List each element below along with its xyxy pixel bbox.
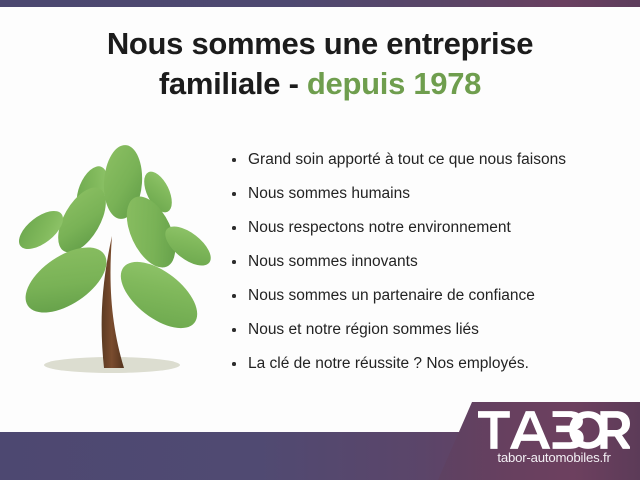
list-item: Nous sommes un partenaire de confiance <box>231 284 631 307</box>
benefits-list: Grand soin apporté à tout ce que nous fa… <box>231 148 631 386</box>
list-item: Nous respectons notre environnement <box>231 216 631 239</box>
page-title-accent: depuis 1978 <box>307 66 481 101</box>
page-title-line-2-text: familiale - <box>159 66 307 101</box>
tabor-wordmark-icon <box>478 411 630 449</box>
page-title-line-1: Nous sommes une entreprise <box>107 26 533 61</box>
tree-illustration <box>8 140 213 390</box>
logo-url-text: tabor-automobiles.fr <box>478 450 630 465</box>
list-item: Grand soin apporté à tout ce que nous fa… <box>231 148 631 171</box>
brand-logo[interactable]: tabor-automobiles.fr <box>478 411 630 473</box>
list-item: Nous et notre région sommes liés <box>231 318 631 341</box>
list-item: La clé de notre réussite ? Nos employés. <box>231 352 631 375</box>
list-item: Nous sommes innovants <box>231 250 631 273</box>
tree-leaves <box>13 144 213 341</box>
top-accent-bar <box>0 0 640 7</box>
page-title: Nous sommes une entreprise familiale - d… <box>0 24 640 104</box>
list-item: Nous sommes humains <box>231 182 631 205</box>
slide-canvas: Nous sommes une entreprise familiale - d… <box>0 0 640 480</box>
tree-icon <box>8 140 213 390</box>
page-title-line-2: familiale - depuis 1978 <box>0 64 640 104</box>
